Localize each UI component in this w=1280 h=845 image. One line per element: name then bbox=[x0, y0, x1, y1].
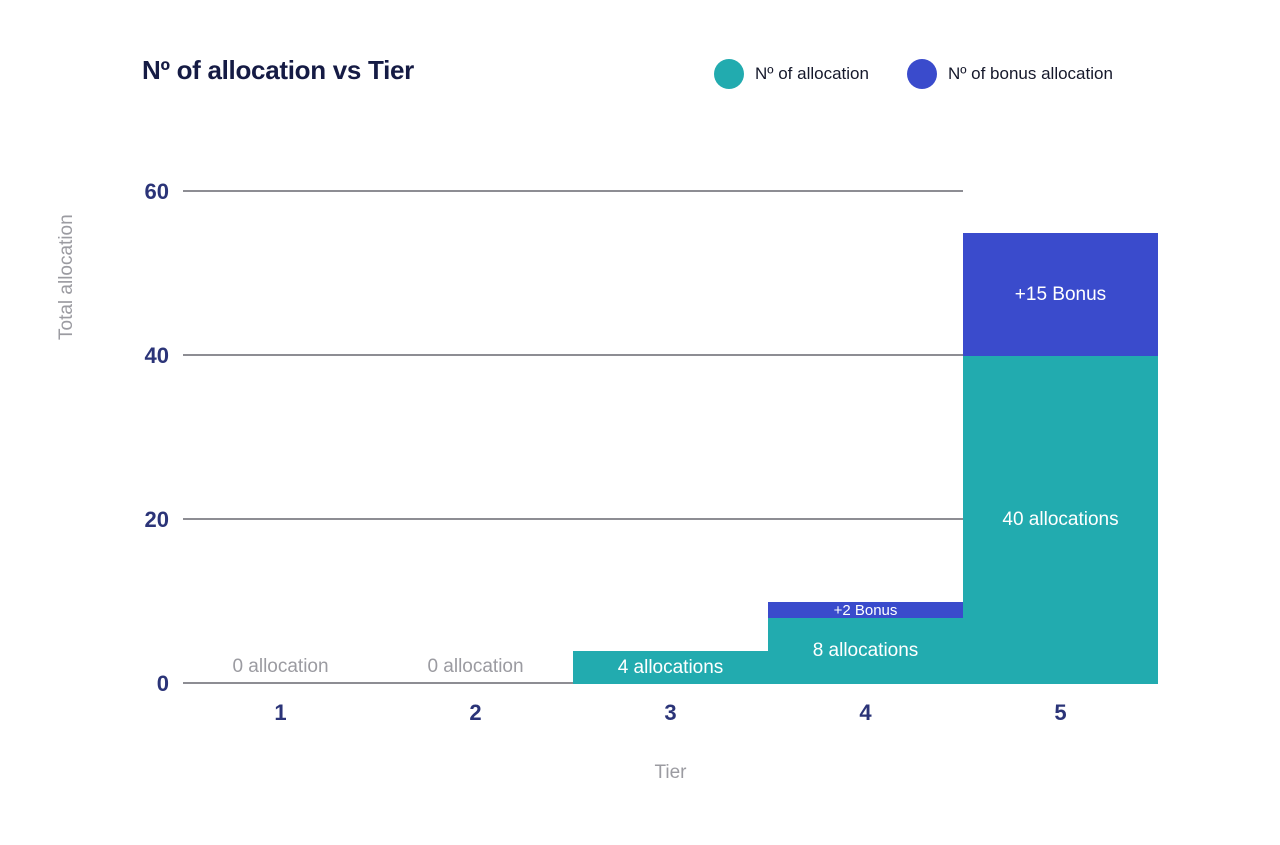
bar-tier-2[interactable]: 0 allocation bbox=[378, 683, 573, 684]
bar-label-allocation: 4 allocations bbox=[618, 657, 724, 679]
x-axis-tick-4: 4 bbox=[768, 700, 963, 726]
bar-tier-3[interactable]: 4 allocations bbox=[573, 651, 768, 684]
page-title: Nº of allocation vs Tier bbox=[142, 55, 414, 86]
chart-page: Nº of allocation vs Tier Nº of allocatio… bbox=[0, 0, 1280, 845]
legend-label-allocation: Nº of allocation bbox=[755, 64, 869, 84]
teal-dot-icon bbox=[714, 59, 744, 89]
x-axis-tick-2: 2 bbox=[378, 700, 573, 726]
bar-segment-bonus[interactable]: +2 Bonus bbox=[768, 602, 963, 618]
gridline bbox=[183, 354, 963, 356]
bar-label-allocation: 8 allocations bbox=[813, 640, 919, 662]
bar-tier-1[interactable]: 0 allocation bbox=[183, 683, 378, 684]
bar-segment-allocation[interactable]: 40 allocations bbox=[963, 356, 1158, 684]
bar-label-zero: 0 allocation bbox=[378, 656, 573, 678]
bar-tier-5[interactable]: 40 allocations+15 Bonus bbox=[963, 233, 1158, 684]
blue-dot-icon bbox=[907, 59, 937, 89]
gridline bbox=[183, 190, 963, 192]
plot-area: 020406010 allocation20 allocation34 allo… bbox=[183, 192, 1158, 684]
bar-label-zero: 0 allocation bbox=[183, 656, 378, 678]
legend-item-bonus-allocation[interactable]: Nº of bonus allocation bbox=[907, 59, 1113, 89]
x-axis-tick-3: 3 bbox=[573, 700, 768, 726]
bar-label-bonus: +15 Bonus bbox=[1015, 284, 1106, 306]
y-axis-tick: 0 bbox=[157, 671, 169, 697]
legend-item-allocation[interactable]: Nº of allocation bbox=[714, 59, 869, 89]
x-axis-title: Tier bbox=[183, 762, 1158, 784]
bar-label-bonus: +2 Bonus bbox=[834, 602, 898, 619]
bar-segment-bonus[interactable]: +15 Bonus bbox=[963, 233, 1158, 356]
y-axis-tick: 60 bbox=[145, 179, 169, 205]
bar-segment-allocation[interactable]: 4 allocations bbox=[573, 651, 768, 684]
y-axis-tick: 40 bbox=[145, 343, 169, 369]
chart-legend: Nº of allocation Nº of bonus allocation bbox=[714, 58, 1113, 90]
bar-tier-4[interactable]: 8 allocations+2 Bonus bbox=[768, 602, 963, 684]
bar-label-allocation: 40 allocations bbox=[1002, 509, 1118, 531]
legend-label-bonus-allocation: Nº of bonus allocation bbox=[948, 64, 1113, 84]
y-axis-title: Total allocation bbox=[56, 214, 78, 340]
x-axis-tick-1: 1 bbox=[183, 700, 378, 726]
bar-segment-allocation[interactable]: 8 allocations bbox=[768, 618, 963, 684]
x-axis-tick-5: 5 bbox=[963, 700, 1158, 726]
y-axis-tick: 20 bbox=[145, 507, 169, 533]
